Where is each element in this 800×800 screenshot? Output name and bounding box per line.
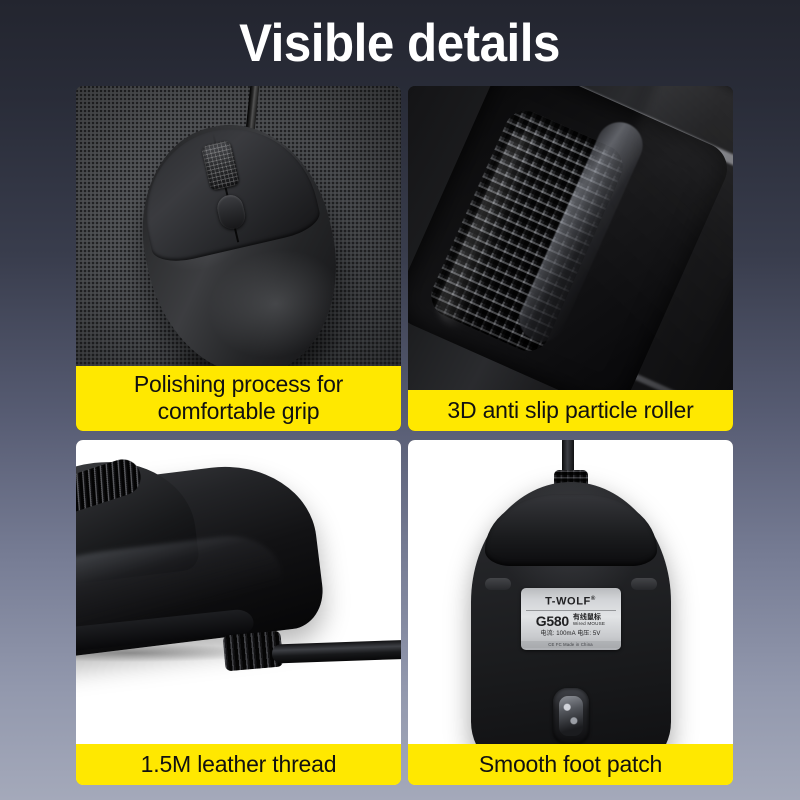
caption-line-1: 3D anti slip particle roller <box>412 397 729 423</box>
label-type-cn: 有线鼠标 <box>573 614 605 621</box>
caption-line-1: 1.5M leather thread <box>80 751 397 777</box>
caption-roller: 3D anti slip particle roller <box>408 390 733 431</box>
mouse-underside-photo: T-WOLF® G580 有线鼠标 Wired MOUSE 电流: 100mA … <box>408 440 733 785</box>
foot-patch-right <box>631 578 657 590</box>
label-brand-superscript: ® <box>591 596 596 602</box>
feature-panel-roller[interactable]: 3D anti slip particle roller <box>408 86 733 431</box>
label-model: G580 <box>536 614 569 628</box>
label-brand: T-WOLF® <box>521 593 621 608</box>
product-detail-page: Visible details Polishing process for co… <box>0 0 800 800</box>
caption-thread: 1.5M leather thread <box>76 744 401 785</box>
label-divider <box>526 610 616 611</box>
mouse-underside-body: T-WOLF® G580 有线鼠标 Wired MOUSE 电流: 100mA … <box>471 482 671 782</box>
feature-panel-polishing[interactable]: Polishing process for comfortable grip <box>76 86 401 431</box>
label-footer: CE FC Made in China <box>521 641 621 648</box>
caption-line-2: comfortable grip <box>80 398 397 425</box>
optical-sensor-lens <box>559 696 583 736</box>
scroll-wheel-macro-photo <box>408 86 733 431</box>
feature-panel-thread[interactable]: 1.5M leather thread <box>76 440 401 785</box>
feature-panel-grid: Polishing process for comfortable grip 3… <box>76 86 725 778</box>
caption-line-1: Smooth foot patch <box>412 751 729 777</box>
page-title: Visible details <box>240 14 561 74</box>
feature-panel-footpatch[interactable]: T-WOLF® G580 有线鼠标 Wired MOUSE 电流: 100mA … <box>408 440 733 785</box>
caption-footpatch: Smooth foot patch <box>408 744 733 785</box>
label-brand-text: T-WOLF <box>545 596 591 608</box>
underside-rim <box>485 494 657 566</box>
label-spec: 电流: 100mA 电压: 5V <box>521 630 621 638</box>
title-bar: Visible details <box>0 14 800 74</box>
product-spec-label: T-WOLF® G580 有线鼠标 Wired MOUSE 电流: 100mA … <box>521 588 621 650</box>
label-type-block: 有线鼠标 Wired MOUSE <box>573 614 605 627</box>
foot-patch-left <box>485 578 511 590</box>
mouse-side-profile-photo <box>76 440 401 785</box>
caption-line-1: Polishing process for <box>80 371 397 398</box>
caption-polishing: Polishing process for comfortable grip <box>76 366 401 431</box>
label-model-row: G580 有线鼠标 Wired MOUSE <box>521 614 621 628</box>
label-type-en: Wired MOUSE <box>573 621 605 627</box>
